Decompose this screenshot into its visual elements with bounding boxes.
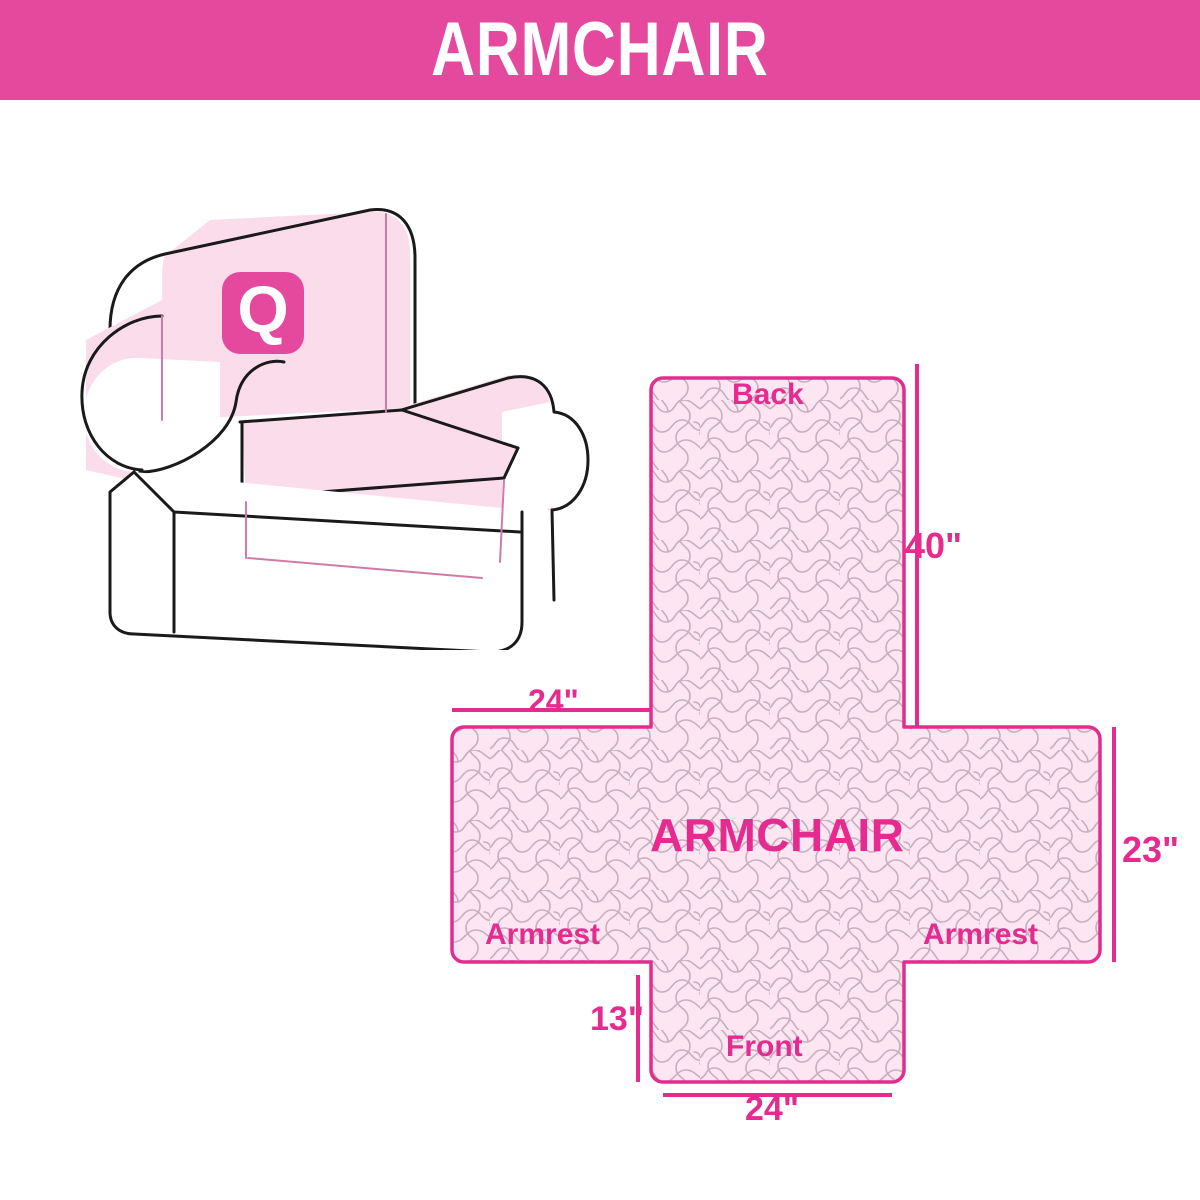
page-root: ARMCHAIR	[0, 0, 1200, 1200]
dimension-label-front-width: 24"	[745, 1092, 799, 1126]
section-label-armrest-left: Armrest	[485, 920, 600, 950]
logo-letter: Q	[237, 272, 288, 346]
section-label-front: Front	[726, 1032, 803, 1062]
page-title: ARMCHAIR	[431, 12, 768, 88]
header-banner: ARMCHAIR	[0, 0, 1200, 100]
pattern-cross-diagram	[420, 330, 1200, 1160]
section-label-back: Back	[732, 380, 804, 410]
dimension-label-armrest-width: 24"	[528, 685, 579, 717]
cross-pattern-shape	[452, 378, 1100, 1082]
dimension-label-back-height: 40"	[905, 528, 962, 564]
brand-logo: Q	[222, 272, 304, 354]
section-label-center: ARMCHAIR	[650, 812, 904, 858]
section-label-armrest-right: Armrest	[923, 920, 1038, 950]
dimension-label-front-height: 13"	[590, 1002, 644, 1036]
dimension-label-body-height: 23"	[1122, 832, 1179, 868]
